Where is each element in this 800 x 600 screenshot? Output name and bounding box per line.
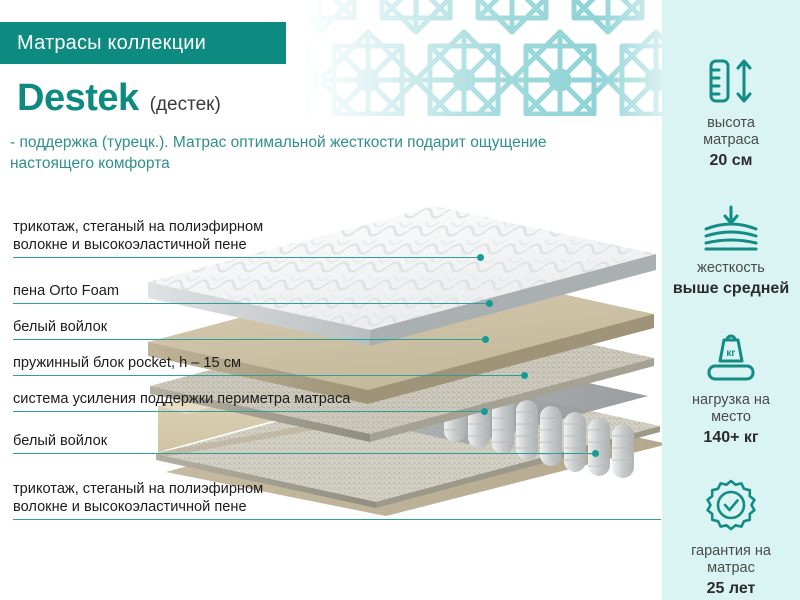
label-layer-5: система усиления поддержки периметра мат…: [0, 384, 500, 412]
label-layer-3: белый войлок: [0, 312, 500, 340]
collection-label: Матрасы коллекции: [0, 32, 206, 55]
label-layer-2-text: пена Orto Foam: [13, 283, 119, 301]
label-layer-4-text: пружинный блок pocket, h – 15 см: [13, 355, 241, 373]
label-layer-3-text: белый войлок: [13, 319, 107, 337]
label-layer-6-text: белый войлок: [13, 433, 107, 451]
spec-height: высотаматраса 20 см: [700, 56, 762, 171]
spec-sidebar: высотаматраса 20 см жесткос: [662, 0, 800, 600]
spec-firmness: жесткость выше средней: [673, 205, 789, 299]
collection-header-bar: Матрасы коллекции: [0, 22, 286, 64]
spec-height-caption: высотаматраса: [703, 115, 759, 149]
label-layer-6: белый войлок: [0, 426, 540, 454]
spec-height-value: 20 см: [710, 152, 753, 171]
label-layer-2: пена Orto Foam: [0, 276, 500, 304]
label-layer-1-text: трикотаж, стеганый на полиэфирномволокне…: [13, 219, 263, 255]
spec-load-caption: нагрузка наместо: [692, 392, 770, 426]
turkish-star-pattern: [300, 0, 680, 116]
spec-warranty-value: 25 лет: [707, 580, 756, 599]
spec-firmness-value: выше средней: [673, 280, 789, 299]
spec-warranty-caption: гарантия наматрас: [691, 543, 771, 577]
spec-warranty: гарантия наматрас 25 лет: [691, 478, 771, 599]
spec-load-value: 140+ кг: [703, 429, 758, 448]
label-layer-1: трикотаж, стеганый на полиэфирномволокне…: [0, 210, 500, 258]
label-layer-7: трикотаж, стеганый на полиэфирномволокне…: [0, 472, 600, 520]
brand-name: Destek: [17, 79, 139, 117]
weight-unit-label: кг: [726, 348, 735, 359]
weight-load-icon: кг: [698, 329, 764, 383]
product-infographic: Матрасы коллекции Destek (дестек) - подд…: [0, 0, 800, 600]
spec-load: кг нагрузка наместо 140+ кг: [692, 329, 770, 448]
ruler-height-icon: [700, 56, 762, 106]
tagline: - поддержка (турецк.). Матрас оптимально…: [10, 132, 570, 175]
label-layer-5-text: система усиления поддержки периметра мат…: [13, 391, 350, 409]
label-layer-4: пружинный блок pocket, h – 15 см: [0, 348, 520, 376]
brand-transliteration: (дестек): [150, 95, 221, 114]
label-layer-7-text: трикотаж, стеганый на полиэфирномволокне…: [13, 481, 263, 517]
warranty-badge-icon: [702, 478, 760, 534]
firmness-waves-icon: [698, 205, 764, 251]
spec-firmness-caption: жесткость: [697, 260, 765, 277]
brand-block: Destek (дестек): [17, 79, 221, 117]
